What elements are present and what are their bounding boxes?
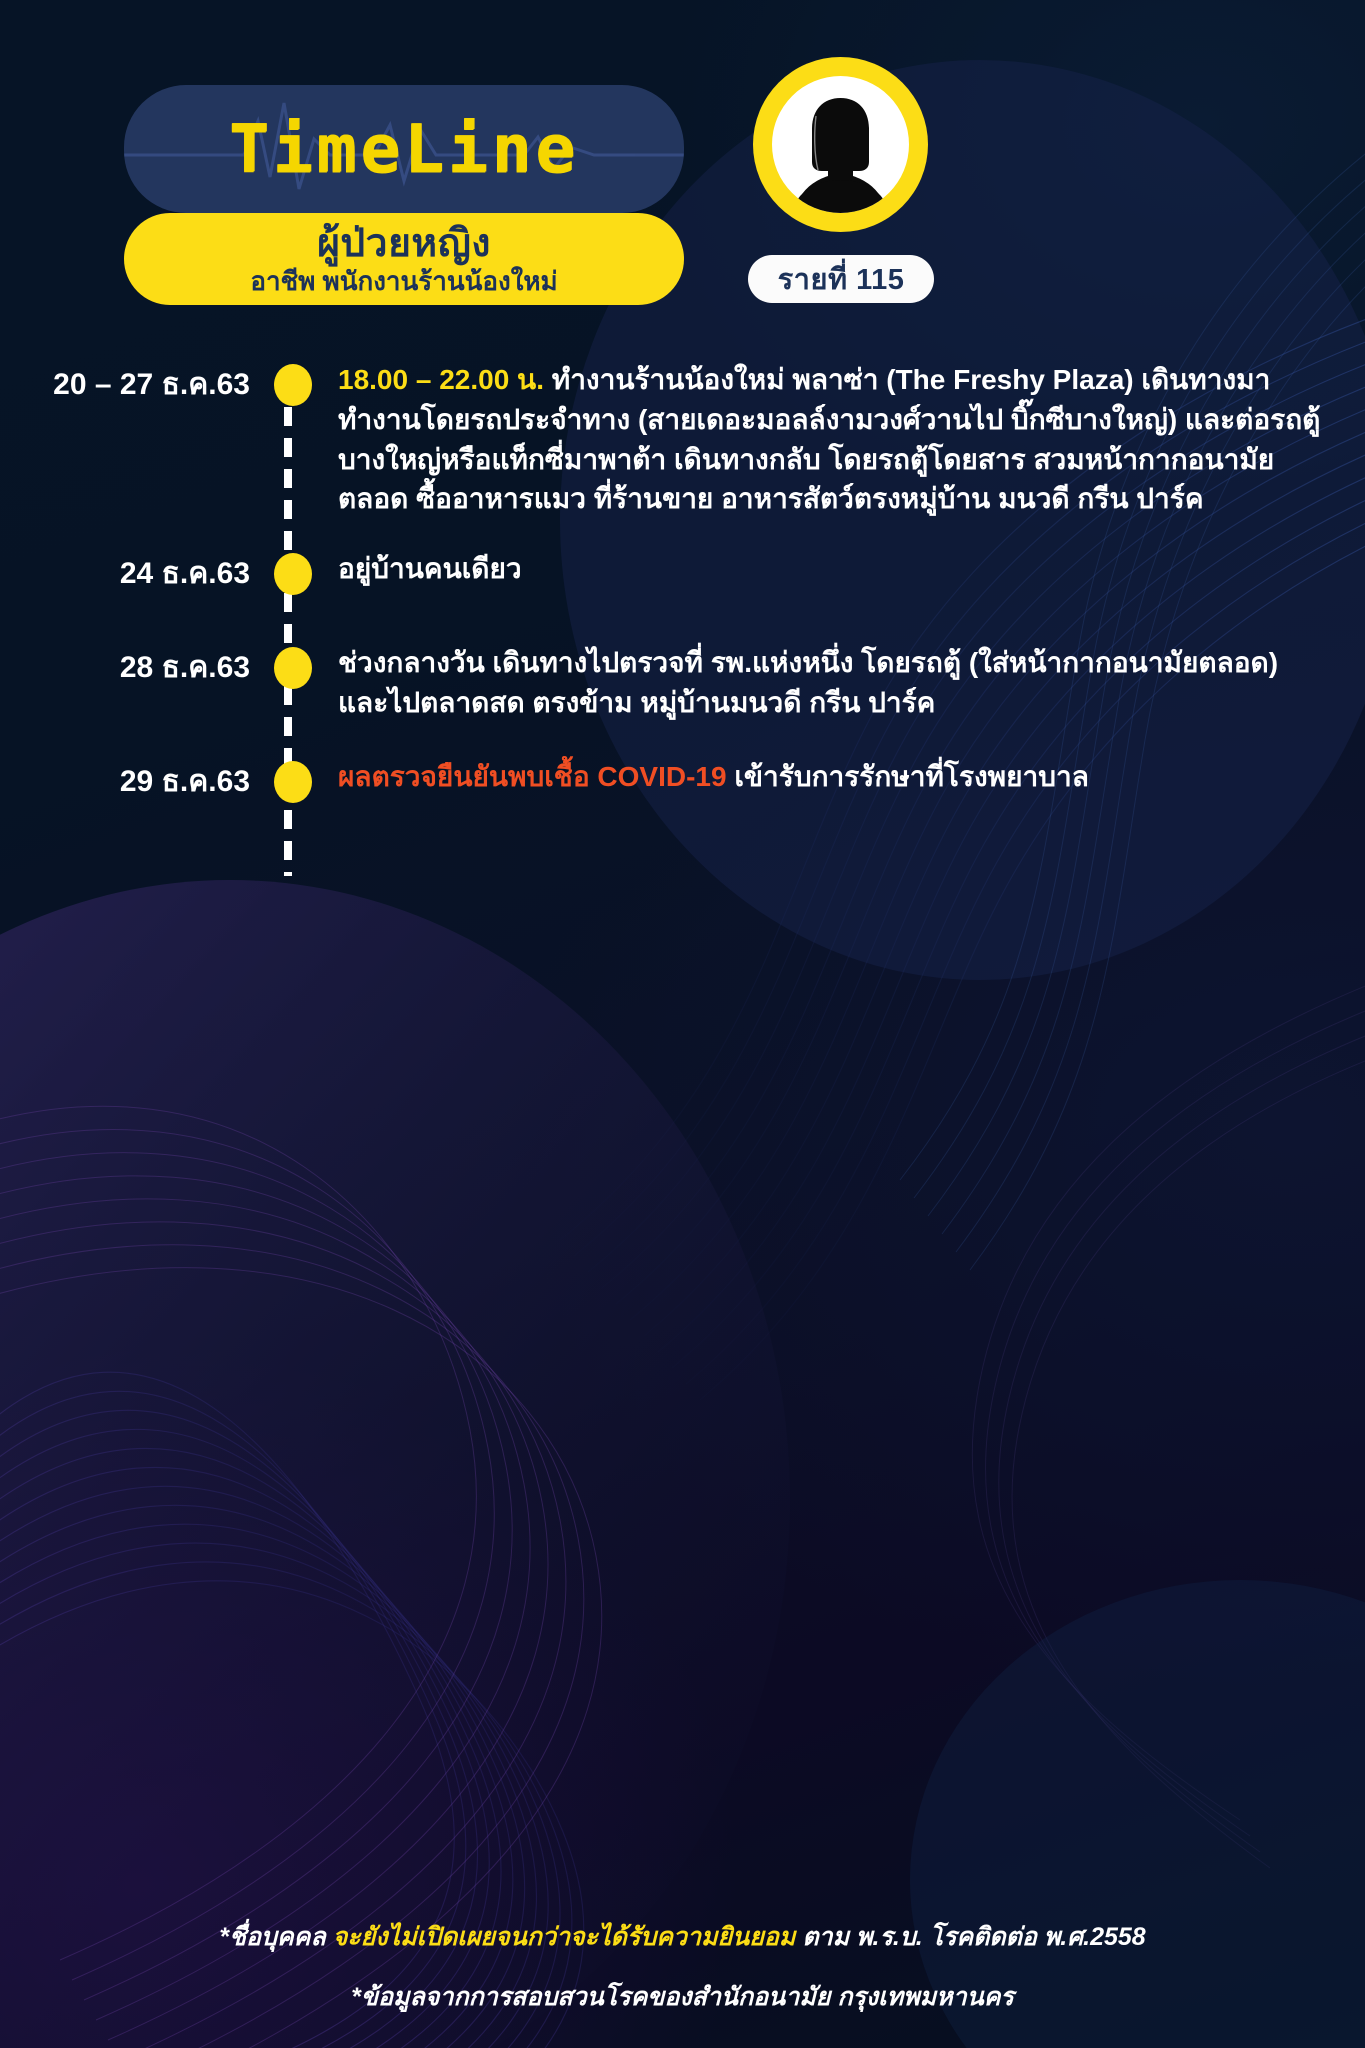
timeline-text: เข้ารับการรักษาที่โรงพยาบาล [727,761,1089,792]
footer-text-part2: ตาม พ.ร.บ. โรคติดต่อ พ.ศ.2558 [795,1923,1145,1951]
timeline-row: 24 ธ.ค.63 อยู่บ้านคนเดียว [0,549,1365,597]
footer-line-source: *ข้อมูลจากการสอบสวนโรคของสำนักอนามัย กรุ… [0,1982,1365,2012]
timeline-date: 29 ธ.ค.63 [0,757,250,805]
avatar [753,57,928,232]
timeline-body: ช่วงกลางวัน เดินทางไปตรวจที่ รพ.แห่งหนึ่… [338,643,1365,723]
timeline-dot-cell [250,757,338,805]
timeline-dot-icon [274,761,312,803]
patient-label: ผู้ป่วยหญิง [317,224,491,263]
timeline-date: 24 ธ.ค.63 [0,549,250,597]
timeline-dot-icon [274,647,312,689]
timeline-dot-cell [250,360,338,519]
timeline-text: อยู่บ้านคนเดียว [338,553,522,584]
avatar-inner-circle [772,76,909,213]
poster-header: TimeLine ผู้ป่วยหญิง อาชีพ พนักงานร้านน้… [0,0,1365,340]
timeline-body: อยู่บ้านคนเดียว [338,549,1365,597]
timeline-highlight: 18.00 – 22.00 น. [338,364,544,395]
timeline-dot-icon [274,364,312,406]
timeline-row: 29 ธ.ค.63 ผลตรวจยืนยันพบเชื้อ COVID-19 เ… [0,757,1365,805]
occupation-label: อาชีพ พนักงานร้านน้องใหม่ [250,268,557,294]
timeline-date: 28 ธ.ค.63 [0,643,250,723]
footer-highlight: จะยังไม่เปิดเผยจนกว่าจะได้รับความยินยอม [333,1923,796,1951]
footer-text-part1: *ชื่อบุคคล [219,1923,332,1951]
timeline-row: 28 ธ.ค.63 ช่วงกลางวัน เดินทางไปตรวจที่ ร… [0,643,1365,723]
subtitle-banner: ผู้ป่วยหญิง อาชีพ พนักงานร้านน้องใหม่ [124,213,684,305]
timeline: 20 – 27 ธ.ค.63 18.00 – 22.00 น. ทำงานร้า… [0,360,1365,805]
footer: *ชื่อบุคคล จะยังไม่เปิดเผยจนกว่าจะได้รับ… [0,1922,1365,2012]
timeline-date: 20 – 27 ธ.ค.63 [0,360,250,519]
timeline-highlight: ผลตรวจยืนยันพบเชื้อ COVID-19 [338,761,727,792]
case-number-badge: รายที่ 115 [748,255,934,303]
footer-line-consent: *ชื่อบุคคล จะยังไม่เปิดเผยจนกว่าจะได้รับ… [0,1922,1365,1952]
timeline-body: 18.00 – 22.00 น. ทำงานร้านน้องใหม่ พลาซ่… [338,360,1365,519]
title-box: TimeLine [124,85,684,213]
timeline-dot-cell [250,549,338,597]
timeline-body: ผลตรวจยืนยันพบเชื้อ COVID-19 เข้ารับการร… [338,757,1365,805]
timeline-row: 20 – 27 ธ.ค.63 18.00 – 22.00 น. ทำงานร้า… [0,360,1365,519]
timeline-text: ช่วงกลางวัน เดินทางไปตรวจที่ รพ.แห่งหนึ่… [338,647,1278,718]
page-title: TimeLine [124,111,684,188]
infographic-poster: TimeLine ผู้ป่วยหญิง อาชีพ พนักงานร้านน้… [0,0,1365,2048]
female-silhouette-avatar-icon [772,76,909,213]
timeline-dot-icon [274,553,312,595]
timeline-dot-cell [250,643,338,723]
